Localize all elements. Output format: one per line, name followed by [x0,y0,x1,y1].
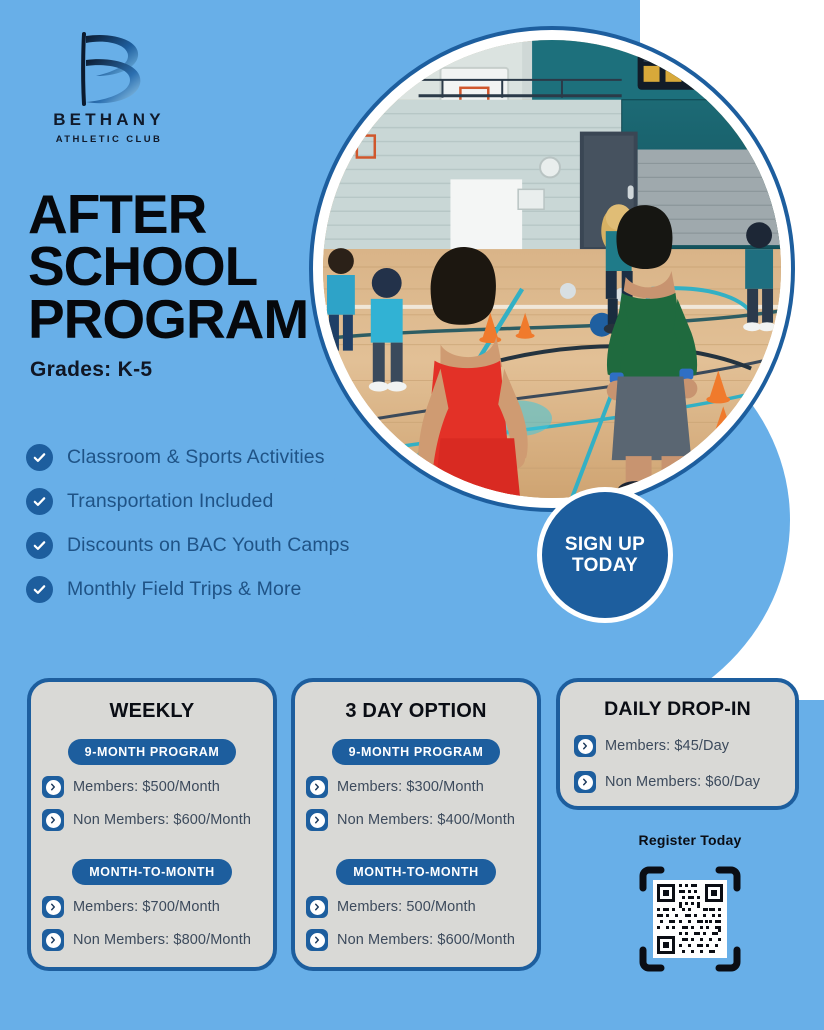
price-label: Members: $500/Month [73,779,220,795]
plan-badge: 9-MONTH PROGRAM [68,739,237,765]
price-row: Non Members: $400/Month [306,809,537,831]
chevron-right-icon [306,776,328,798]
feature-label: Classroom & Sports Activities [67,446,325,469]
chevron-right-icon [574,735,596,757]
price-row: Members: $45/Day [574,735,795,757]
qr-code-icon[interactable] [629,858,751,980]
check-circle-icon [26,444,53,471]
price-label: Non Members: $800/Month [73,932,251,948]
plan-badge: MONTH-TO-MONTH [72,859,232,885]
poster-root: BETHANY ATHLETIC CLUB AFTER SCHOOL PROGR… [0,0,824,1030]
headline-line-2: SCHOOL [28,240,308,292]
gym-scene-illustration [323,40,781,498]
chevron-right-icon [306,809,328,831]
feature-item: Discounts on BAC Youth Camps [26,523,426,567]
check-circle-icon [26,576,53,603]
chevron-right-icon [42,896,64,918]
price-label: Members: $700/Month [73,899,220,915]
register-qr-block[interactable]: Register Today [620,832,760,980]
chevron-right-icon [574,771,596,793]
bethany-b-swoosh-icon [34,30,184,108]
price-row: Non Members: $800/Month [42,929,273,951]
plan-badge: 9-MONTH PROGRAM [332,739,501,765]
price-label: Non Members: $400/Month [337,812,515,828]
price-label: Non Members: $600/Month [337,932,515,948]
chevron-right-icon [306,896,328,918]
sign-up-today-badge[interactable]: SIGN UP TODAY [537,487,673,623]
pricing-card: WEEKLY9-MONTH PROGRAMMembers: $500/Month… [27,678,277,971]
price-row: Members: $300/Month [306,776,537,798]
feature-label: Monthly Field Trips & More [67,578,302,601]
sign-up-line-1: SIGN UP [565,534,645,555]
headline-line-1: AFTER [28,188,308,240]
chevron-right-icon [306,929,328,951]
chevron-right-icon [42,776,64,798]
price-label: Non Members: $600/Month [73,812,251,828]
price-label: Members: $45/Day [605,738,729,754]
sign-up-line-2: TODAY [572,555,638,576]
feature-label: Transportation Included [67,490,273,513]
price-label: Members: 500/Month [337,899,476,915]
pricing-card: DAILY DROP-INMembers: $45/DayNon Members… [556,678,799,810]
brand-name: BETHANY [34,110,184,130]
pricing-card-title: 3 DAY OPTION [295,700,537,723]
brand-subtitle: ATHLETIC CLUB [34,134,184,145]
background-right-white-strip [800,0,824,790]
brand-logo: BETHANY ATHLETIC CLUB [34,30,184,145]
price-label: Members: $300/Month [337,779,484,795]
price-row: Non Members: $60/Day [574,771,795,793]
price-row: Non Members: $600/Month [306,929,537,951]
chevron-right-icon [42,809,64,831]
grades-label: Grades: K-5 [30,358,152,382]
feature-item: Monthly Field Trips & More [26,567,426,611]
headline-line-3: PROGRAM [28,293,308,345]
pricing-card: 3 DAY OPTION9-MONTH PROGRAMMembers: $300… [291,678,541,971]
price-row: Members: $700/Month [42,896,273,918]
hero-photo-frame [309,26,795,512]
qr-title: Register Today [620,832,760,848]
check-circle-icon [26,488,53,515]
feature-label: Discounts on BAC Youth Camps [67,534,349,557]
page-title: AFTER SCHOOL PROGRAM [28,188,308,345]
chevron-right-icon [42,929,64,951]
check-circle-icon [26,532,53,559]
qr-code-graphic [629,858,751,980]
price-row: Members: 500/Month [306,896,537,918]
price-row: Non Members: $600/Month [42,809,273,831]
pricing-card-title: DAILY DROP-IN [560,698,795,721]
price-row: Members: $500/Month [42,776,273,798]
price-label: Non Members: $60/Day [605,774,760,790]
pricing-card-title: WEEKLY [31,700,273,723]
plan-badge: MONTH-TO-MONTH [336,859,496,885]
hero-photo [323,40,781,498]
